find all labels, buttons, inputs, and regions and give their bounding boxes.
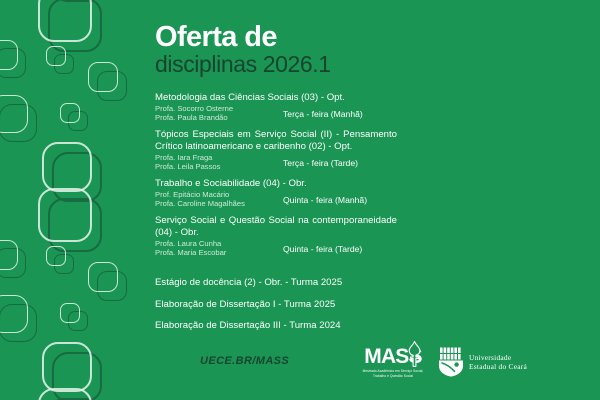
decorative-square (46, 46, 66, 66)
decorative-square (38, 0, 92, 42)
simple-course-item: Elaboração de Dissertação III - Turma 20… (155, 321, 455, 331)
course-title: Metodologia das Ciências Sociais (03) - … (155, 92, 397, 104)
course-title: Serviço Social e Questão Social na conte… (155, 215, 397, 240)
logo-group: MASS Mestrado Acadêmico em Serviço Socia… (362, 346, 527, 378)
decorative-square (54, 54, 74, 74)
decorative-square (0, 295, 28, 333)
poster-header: Oferta de disciplinas 2026.1 (155, 22, 575, 78)
decorative-square (68, 311, 88, 331)
decorative-square (0, 240, 18, 270)
course-meta: Profa. Socorro OsterneProfa. Paula Brand… (155, 105, 397, 123)
decorative-square (52, 352, 102, 400)
decorative-square (88, 262, 118, 292)
mass-wordmark-text: MASS (364, 346, 421, 367)
site-url[interactable]: UECE.BR/MASS (200, 355, 289, 367)
course-item: Serviço Social e Questão Social na conte… (155, 215, 397, 258)
course-list: Metodologia das Ciências Sociais (03) - … (155, 92, 397, 264)
course-title: Tópicos Especiais em Serviço Social (II)… (155, 129, 397, 154)
simple-course-item: Estágio de docência (2) - Obr. - Turma 2… (155, 278, 455, 288)
decorative-square (38, 388, 92, 400)
decorative-square (48, 198, 102, 252)
course-meta: Profa. Iara FragaProfa. Leila PassosTerç… (155, 154, 397, 172)
decorative-square (0, 104, 37, 142)
page-title-primary: Oferta de (155, 22, 575, 52)
course-schedule: Quinta - feira (Manhã) (283, 195, 367, 205)
uece-logo-text: Universidade Estadual do Ceará (469, 353, 527, 371)
decorative-square (88, 62, 118, 92)
decorative-square (38, 188, 92, 242)
course-meta: Profa. Laura CunhaProfa. Maria EscobarQu… (155, 240, 397, 258)
decorative-square (52, 152, 102, 202)
decorative-square (60, 103, 80, 123)
decorative-square (0, 40, 18, 70)
decorative-square (46, 246, 66, 266)
mass-flame-icon (406, 341, 423, 367)
simple-course-list: Estágio de docência (2) - Obr. - Turma 2… (155, 278, 455, 343)
decorative-square (0, 248, 26, 278)
course-schedule: Terça - feira (Tarde) (283, 158, 358, 168)
uece-line-1: Universidade (469, 353, 527, 362)
decorative-square (0, 48, 26, 78)
uece-crest-icon (438, 347, 464, 377)
course-schedule: Quinta - feira (Tarde) (283, 244, 362, 254)
decorative-square (48, 0, 102, 52)
professor-name: Profa. Leila Passos (155, 163, 397, 172)
decorative-square (42, 342, 92, 392)
course-item: Metodologia das Ciências Sociais (03) - … (155, 92, 397, 123)
decorative-square (97, 71, 127, 101)
course-item: Tópicos Especiais em Serviço Social (II)… (155, 129, 397, 172)
decorative-square (97, 271, 127, 301)
course-schedule: Terça - feira (Manhã) (283, 109, 363, 119)
decorative-square (68, 111, 88, 131)
simple-course-item: Elaboração de Dissertação I - Turma 2025 (155, 300, 455, 310)
decorative-squares-pattern (0, 0, 150, 400)
decorative-square (0, 304, 37, 342)
course-title: Trabalho e Sociabilidade (04) - Obr. (155, 178, 397, 190)
decorative-square (42, 142, 92, 192)
poster-canvas: Oferta de disciplinas 2026.1 Metodologia… (0, 0, 600, 400)
course-professors: Profa. Iara FragaProfa. Leila Passos (155, 154, 397, 172)
mass-logo: MASS Mestrado Acadêmico em Serviço Socia… (362, 346, 424, 378)
decorative-square (60, 303, 80, 323)
course-item: Trabalho e Sociabilidade (04) - Obr.Prof… (155, 178, 397, 209)
mass-logo-subtitle: Mestrado Acadêmico em Serviço Social, Tr… (362, 369, 424, 378)
course-meta: Prof. Epitácio MacárioProfa. Caroline Ma… (155, 191, 397, 209)
decorative-square (52, 0, 102, 2)
decorative-square (54, 254, 74, 274)
uece-logo: Universidade Estadual do Ceará (438, 347, 527, 377)
page-title-secondary: disciplinas 2026.1 (155, 52, 575, 78)
decorative-square (0, 95, 28, 133)
uece-line-2: Estadual do Ceará (469, 362, 527, 371)
